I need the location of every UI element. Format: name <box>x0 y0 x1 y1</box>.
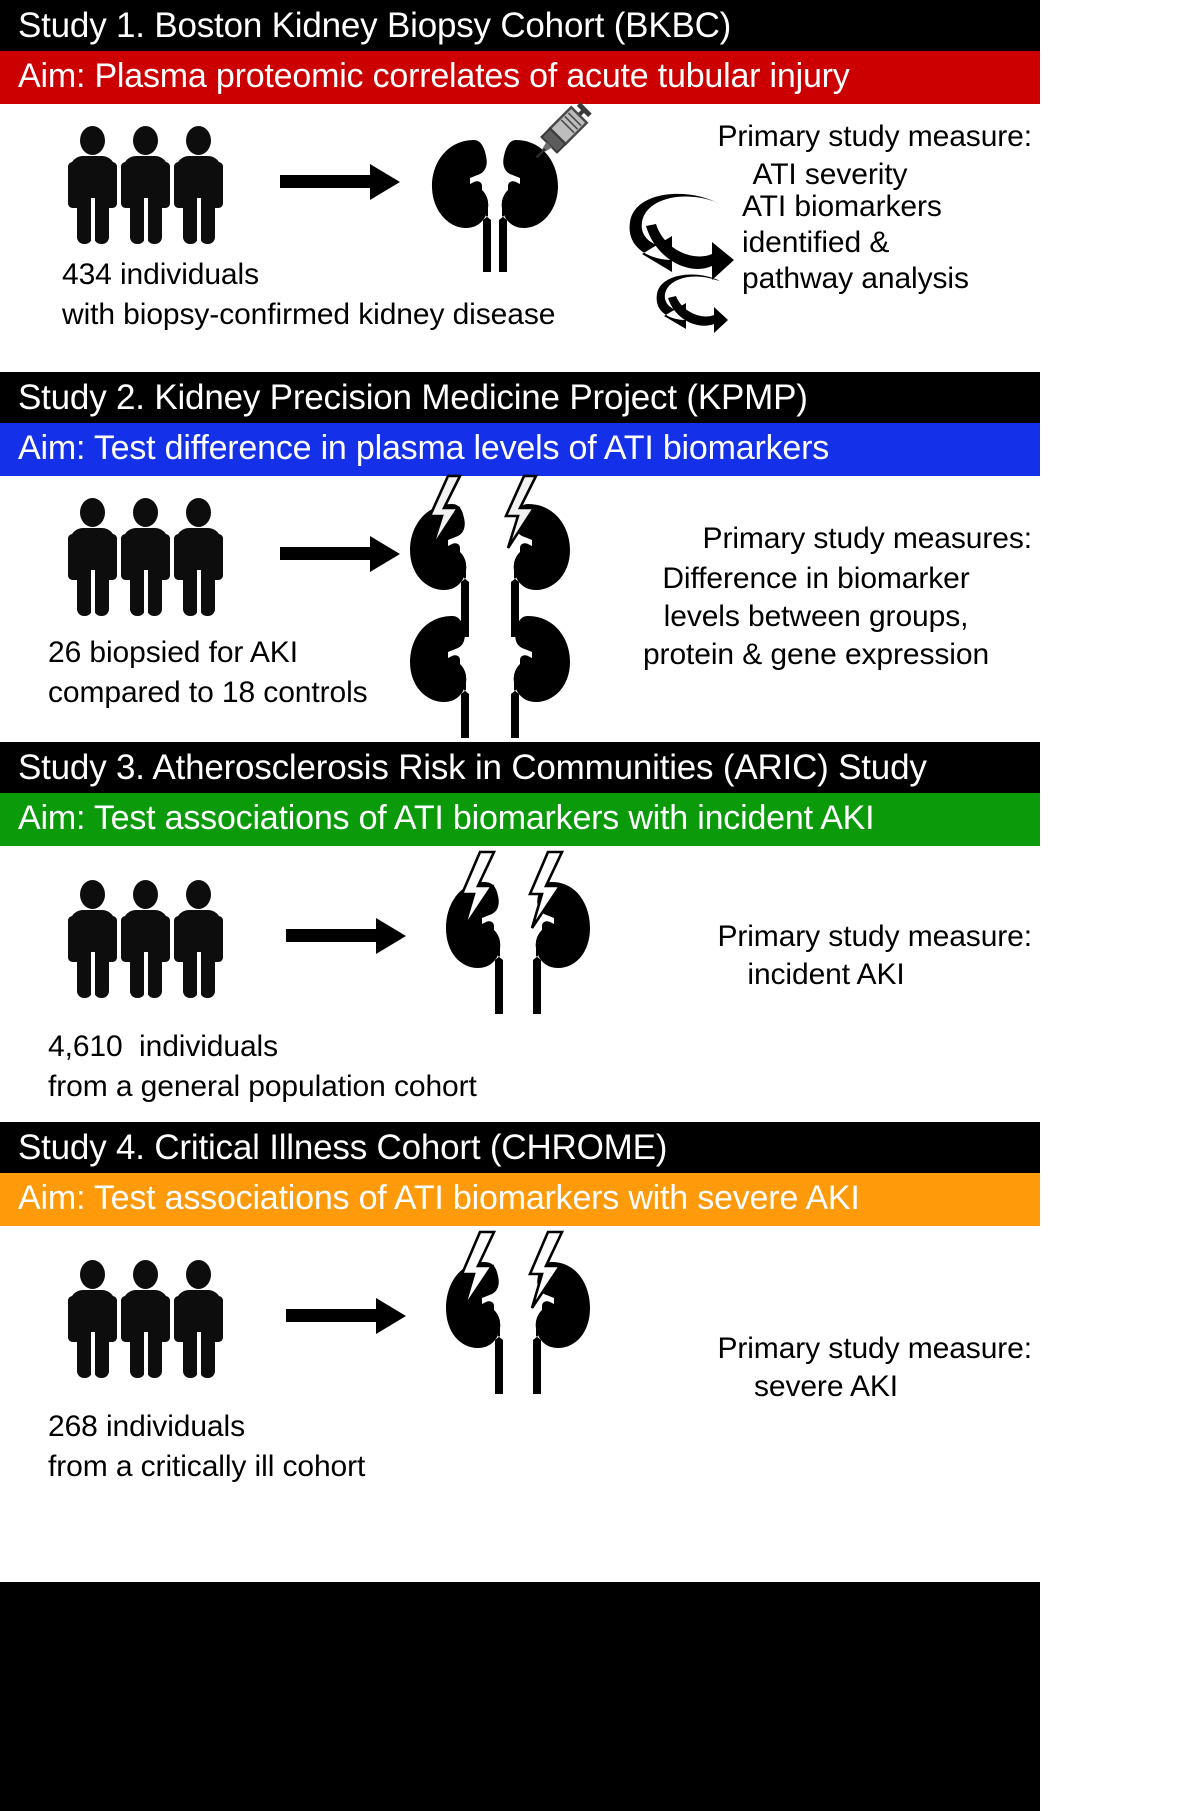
study-3-measure-line-1: incident AKI <box>620 956 1032 994</box>
kidneys-icon-study-4 <box>438 1228 598 1396</box>
study-2-title: Study 2. Kidney Precision Medicine Proje… <box>0 372 1040 423</box>
study-3-caption-line-1: 4,610 individuals <box>48 1028 278 1066</box>
study-2-body: 26 biopsied for AKI compared to 18 contr… <box>0 476 1040 742</box>
person-icon <box>168 498 228 616</box>
study-1-aim-band: Aim: Plasma proteomic correlates of acut… <box>0 51 1040 104</box>
study-3-title: Study 3. Atherosclerosis Risk in Communi… <box>0 742 1040 793</box>
study-2-caption-line-1: 26 biopsied for AKI <box>48 634 298 672</box>
flow-arrow-icon <box>280 536 400 572</box>
study-4-measure-heading: Primary study measure: <box>600 1330 1032 1368</box>
study-1-measure-line-4: pathway analysis <box>742 260 1040 298</box>
study-3-body: 4,610 individuals from a general populat… <box>0 846 1040 1122</box>
syringe-icon <box>524 94 600 170</box>
person-icon <box>62 1260 122 1378</box>
person-icon <box>62 126 122 244</box>
study-2-aim-band: Aim: Test difference in plasma levels of… <box>0 423 1040 476</box>
kidneys-icon-study-2-bottom <box>400 610 580 740</box>
study-2-measure-line-3: protein & gene expression <box>600 636 1032 674</box>
person-icon <box>168 1260 228 1378</box>
study-overview-figure: Study 1. Boston Kidney Biopsy Cohort (BK… <box>0 0 1040 1811</box>
person-icon <box>62 498 122 616</box>
flow-arrow-icon <box>280 164 400 200</box>
person-icon <box>115 126 175 244</box>
study-1-title: Study 1. Boston Kidney Biopsy Cohort (BK… <box>0 0 1040 51</box>
study-2-block: Study 2. Kidney Precision Medicine Proje… <box>0 372 1040 742</box>
study-3-caption-line-2: from a general population cohort <box>48 1068 477 1106</box>
study-1-measure-line-3: identified & <box>742 224 1040 262</box>
flow-arrow-icon <box>286 1298 406 1334</box>
study-1-measure-heading: Primary study measure: <box>600 118 1032 156</box>
flow-arrow-icon <box>286 918 406 954</box>
person-icon <box>168 880 228 998</box>
study-4-caption-line-1: 268 individuals <box>48 1408 245 1446</box>
study-4-measure-line-1: severe AKI <box>620 1368 1032 1406</box>
study-4-block: Study 4. Critical Illness Cohort (CHROME… <box>0 1122 1040 1582</box>
kidneys-icon-study-3 <box>438 848 598 1016</box>
study-3-aim-band: Aim: Test associations of ATI biomarkers… <box>0 793 1040 846</box>
people-group-study-3 <box>62 880 221 998</box>
study-1-block: Study 1. Boston Kidney Biopsy Cohort (BK… <box>0 0 1040 372</box>
study-4-caption-line-2: from a critically ill cohort <box>48 1448 365 1486</box>
person-icon <box>115 498 175 616</box>
curved-arrow-icon-small <box>654 272 730 334</box>
study-1-caption-line-2: with biopsy-confirmed kidney disease <box>62 296 555 334</box>
people-group-study-2 <box>62 498 221 616</box>
people-group-study-1 <box>62 126 221 244</box>
study-2-caption-line-2: compared to 18 controls <box>48 674 368 712</box>
study-1-body: 434 individuals with biopsy-confirmed ki… <box>0 104 1040 372</box>
study-2-measure-line-1: Difference in biomarker <box>600 560 1032 598</box>
study-4-aim-band: Aim: Test associations of ATI biomarkers… <box>0 1173 1040 1226</box>
study-3-block: Study 3. Atherosclerosis Risk in Communi… <box>0 742 1040 1122</box>
study-3-measure-heading: Primary study measure: <box>600 918 1032 956</box>
person-icon <box>168 126 228 244</box>
study-2-measure-line-2: levels between groups, <box>600 598 1032 636</box>
people-group-study-4 <box>62 1260 221 1378</box>
study-2-measure-heading: Primary study measures: <box>600 520 1032 558</box>
person-icon <box>115 880 175 998</box>
person-icon <box>62 880 122 998</box>
study-1-measure-line-2: ATI biomarkers <box>742 188 1040 226</box>
study-1-caption-line-1: 434 individuals <box>62 256 259 294</box>
person-icon <box>115 1260 175 1378</box>
study-4-body: 268 individuals from a critically ill co… <box>0 1226 1040 1582</box>
study-4-title: Study 4. Critical Illness Cohort (CHROME… <box>0 1122 1040 1173</box>
